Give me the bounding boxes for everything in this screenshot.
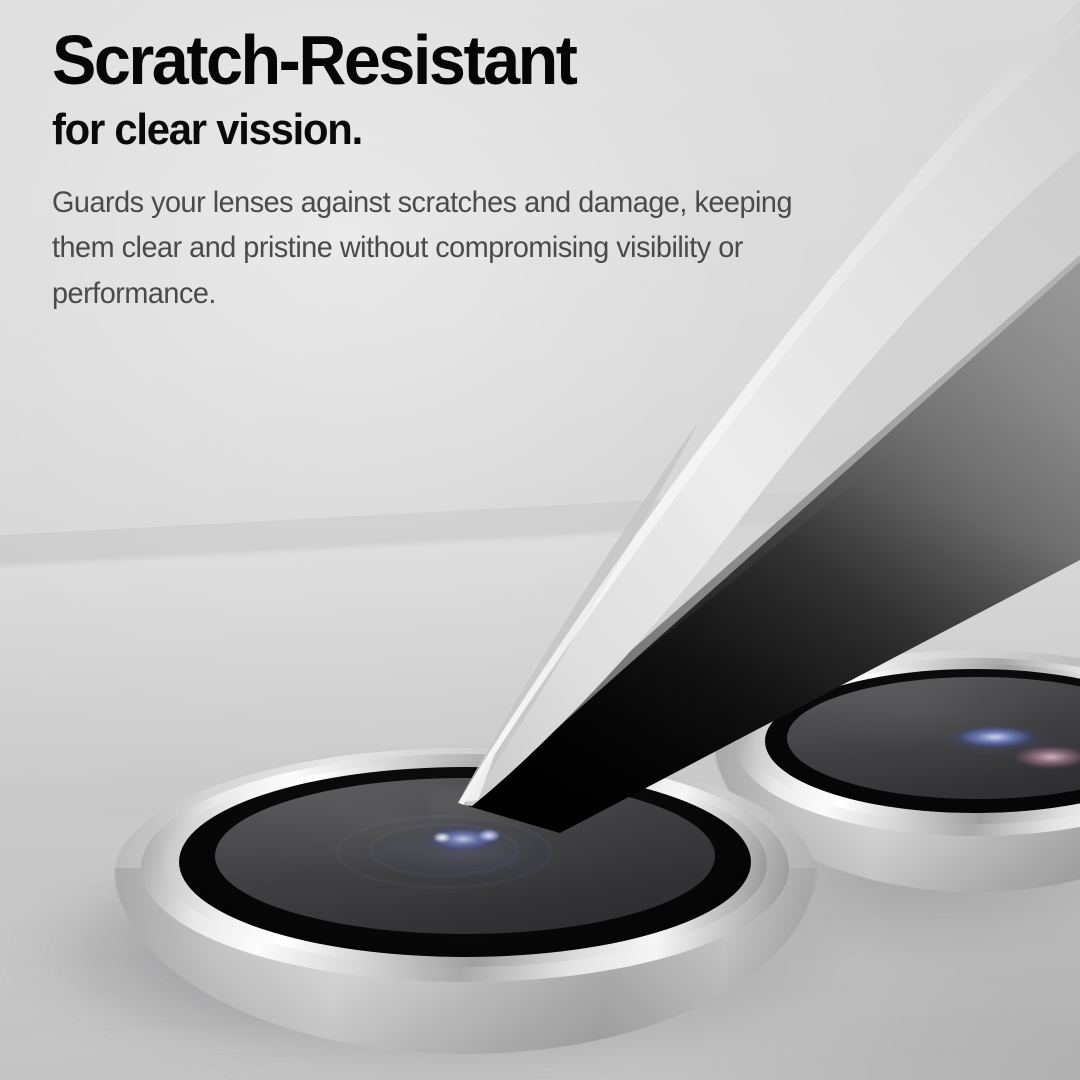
page-title: Scratch-Resistant [52,26,850,95]
rear-lens-flare-blue [953,726,1037,748]
body-paragraph: Guards your lenses against scratches and… [52,180,820,317]
front-lens-specular-right [479,830,499,841]
lens-module-front [115,748,815,1080]
marketing-hero-image: Scratch-Resistant for clear vission. Gua… [0,0,1080,1080]
front-lens-specular-left [434,833,450,842]
copy-block: Scratch-Resistant for clear vission. Gua… [52,26,892,317]
page-subtitle: for clear vission. [52,105,850,154]
rear-lens-flare-pink [1015,746,1080,768]
